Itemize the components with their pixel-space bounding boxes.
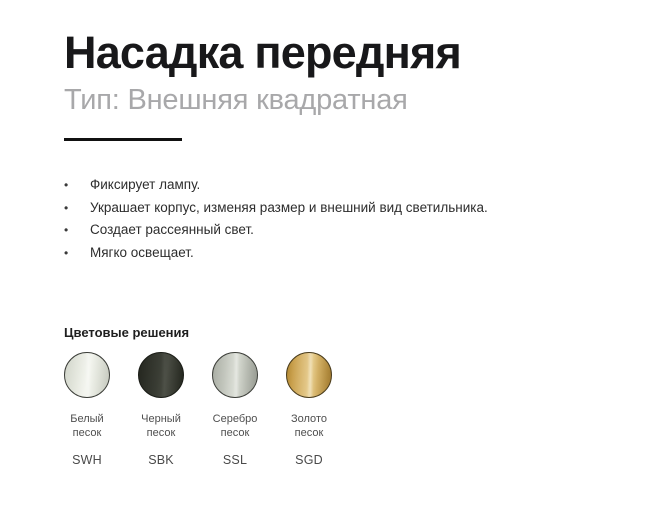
color-name-line2: песок: [295, 427, 324, 439]
swatch-highlight-icon: [287, 353, 331, 397]
color-swatch-icon-swh[interactable]: [64, 352, 110, 398]
feature-list: • Фиксирует лампу. • Украшает корпус, из…: [64, 174, 586, 264]
color-swatch-code-sgd: SGD: [286, 453, 332, 468]
list-item: • Фиксирует лампу.: [64, 174, 586, 197]
color-name-line1: Белый: [70, 413, 103, 425]
list-item-label: Создает рассеянный свет.: [90, 219, 586, 242]
color-swatch-item-swh[interactable]: Белый песок SWH: [64, 352, 110, 468]
list-item: • Мягко освещает.: [64, 242, 586, 265]
page-title: Насадка передняя: [64, 0, 586, 79]
color-swatch-name-ssl: Серебро песок: [212, 412, 258, 440]
swatch-highlight-icon: [65, 353, 109, 397]
bullet-icon: •: [64, 197, 90, 220]
color-swatch-icon-ssl[interactable]: [212, 352, 258, 398]
page-subtitle: Тип: Внешняя квадратная: [64, 79, 586, 118]
color-swatch-item-sgd[interactable]: Золото песок SGD: [286, 352, 332, 468]
color-name-line1: Черный: [141, 413, 181, 425]
swatch-highlight-icon: [213, 353, 257, 397]
color-swatch-name-swh: Белый песок: [64, 412, 110, 440]
color-swatch-code-sbk: SBK: [138, 453, 184, 468]
title-divider: [64, 138, 182, 141]
color-swatch-item-sbk[interactable]: Черный песок SBK: [138, 352, 184, 468]
color-name-line1: Золото: [291, 413, 327, 425]
product-spec-card: Насадка передняя Тип: Внешняя квадратная…: [0, 0, 650, 506]
color-swatch-name-sgd: Золото песок: [286, 412, 332, 440]
list-item-label: Украшает корпус, изменяя размер и внешни…: [90, 197, 586, 220]
list-item-label: Мягко освещает.: [90, 242, 586, 265]
color-swatch-row: Белый песок SWH Черный песок SBK: [64, 352, 332, 468]
color-swatch-item-ssl[interactable]: Серебро песок SSL: [212, 352, 258, 468]
list-item: • Украшает корпус, изменяя размер и внеш…: [64, 197, 586, 220]
bullet-icon: •: [64, 219, 90, 242]
color-name-line1: Серебро: [213, 413, 258, 425]
color-options-section: Цветовые решения Белый песок SWH Черный: [64, 325, 332, 468]
color-swatch-code-swh: SWH: [64, 453, 110, 468]
color-name-line2: песок: [221, 427, 250, 439]
color-swatch-icon-sbk[interactable]: [138, 352, 184, 398]
list-item: • Создает рассеянный свет.: [64, 219, 586, 242]
color-name-line2: песок: [147, 427, 176, 439]
color-swatch-name-sbk: Черный песок: [138, 412, 184, 440]
color-name-line2: песок: [73, 427, 102, 439]
bullet-icon: •: [64, 242, 90, 265]
color-options-heading: Цветовые решения: [64, 325, 332, 341]
color-swatch-code-ssl: SSL: [212, 453, 258, 468]
bullet-icon: •: [64, 174, 90, 197]
swatch-highlight-icon: [139, 353, 183, 397]
list-item-label: Фиксирует лампу.: [90, 174, 586, 197]
color-swatch-icon-sgd[interactable]: [286, 352, 332, 398]
